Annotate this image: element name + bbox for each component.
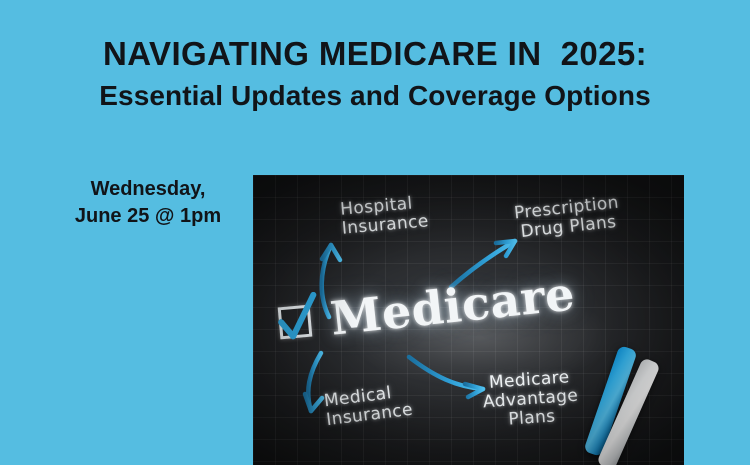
event-day: Wednesday, [48, 176, 248, 203]
arrow-to-medical-insurance [305, 353, 322, 411]
event-datetime: Wednesday, June 25 @ 1pm [48, 176, 248, 230]
chalkboard-illustration: Hospital Insurance Prescription Drug Pla… [253, 175, 684, 465]
checkmark-icon [273, 291, 323, 346]
arrow-to-medicare-advantage-plans [409, 357, 483, 397]
chalk-label-medicare-advantage-plans: Medicare Advantage Plans [481, 368, 580, 432]
page-headline: NAVIGATING MEDICARE IN 2025: Essential U… [0, 36, 750, 111]
chalk-label-hospital-insurance: Hospital Insurance [340, 193, 430, 239]
event-time: June 25 @ 1pm [48, 203, 248, 230]
page-subtitle: Essential Updates and Coverage Options [0, 81, 750, 111]
page-title: NAVIGATING MEDICARE IN 2025: [0, 36, 750, 72]
